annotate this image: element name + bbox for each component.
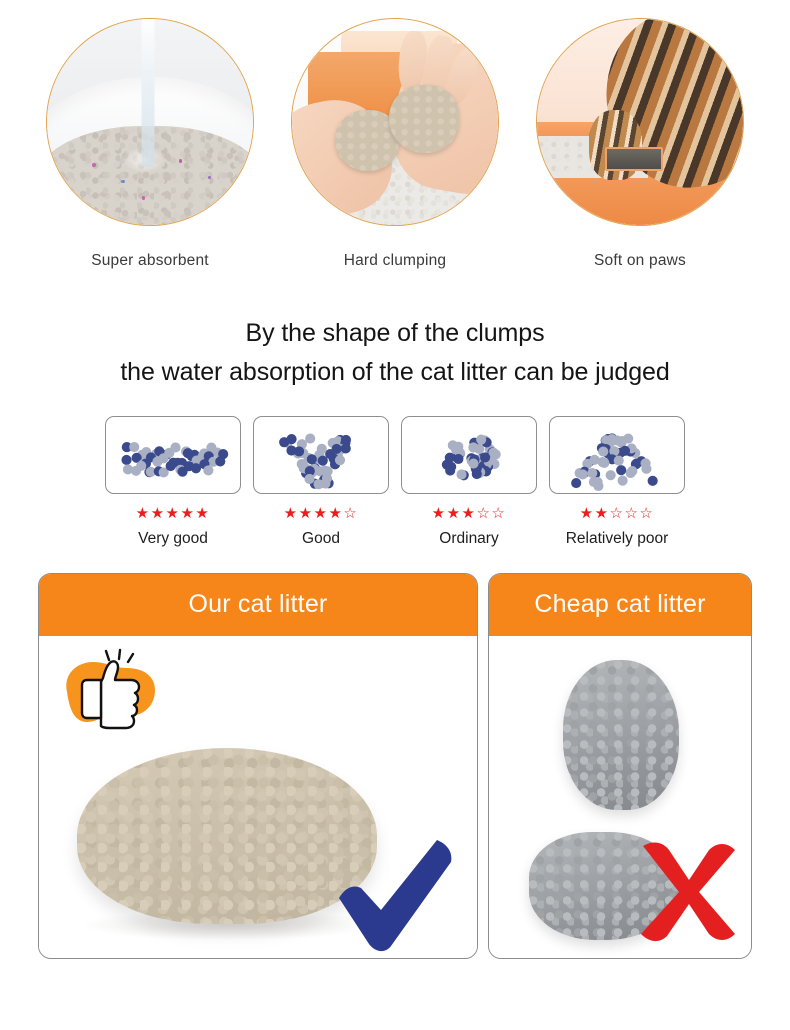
headline: By the shape of the clumps the water abs… xyxy=(0,314,790,392)
thumbs-up-icon xyxy=(57,648,169,734)
compact-round-clump-svg xyxy=(402,417,536,493)
cheap-cat-litter-header: Cheap cat litter xyxy=(489,574,751,636)
soft-on-paws-photo xyxy=(536,18,744,226)
cheap-cat-litter-panel: Cheap cat litter xyxy=(488,573,752,959)
rating-row: ★★★★★ Very good ★★★★☆ Good ★★★☆☆ Ordinar… xyxy=(0,416,790,548)
cheap-litter-clump-photo-top xyxy=(563,660,679,810)
our-litter-clump-photo xyxy=(77,748,377,924)
feature-label: Soft on paws xyxy=(594,252,686,270)
rating-label: Good xyxy=(302,530,340,548)
flat-spread-clump-diagram xyxy=(105,416,241,494)
our-cat-litter-header: Our cat litter xyxy=(39,574,477,636)
product-infographic-page: Super absorbent Hard clumping xyxy=(0,0,790,1030)
star-rating: ★★☆☆☆ xyxy=(580,506,655,521)
feature-item-soft-on-paws: Soft on paws xyxy=(534,18,746,270)
panel-title: Cheap cat litter xyxy=(534,590,705,619)
our-cat-litter-body xyxy=(39,636,477,958)
rating-item-relatively-poor: ★★☆☆☆ Relatively poor xyxy=(549,416,685,548)
rating-label: Relatively poor xyxy=(566,530,669,548)
blue-check-mark-icon xyxy=(333,834,459,952)
super-absorbent-photo xyxy=(46,18,254,226)
rating-label: Ordinary xyxy=(439,530,498,548)
rating-label: Very good xyxy=(138,530,208,548)
star-rating: ★★★★★ xyxy=(136,506,211,521)
feature-item-hard-clumping: Hard clumping xyxy=(289,18,501,270)
red-x-mark-icon xyxy=(633,840,745,944)
pyramid-mound-clump-diagram xyxy=(549,416,685,494)
star-rating: ★★★★☆ xyxy=(284,506,359,521)
feature-item-super-absorbent: Super absorbent xyxy=(44,18,256,270)
compact-round-clump-diagram xyxy=(401,416,537,494)
headline-line-1: By the shape of the clumps xyxy=(0,314,790,353)
headline-line-2: the water absorption of the cat litter c… xyxy=(0,353,790,392)
flat-spread-clump-svg xyxy=(106,417,240,493)
pyramid-mound-clump-svg xyxy=(550,417,684,493)
comparison-section: Our cat litter Cheap cat litter xyxy=(38,573,752,959)
v-shaped-clump-svg xyxy=(254,417,388,493)
our-cat-litter-panel: Our cat litter xyxy=(38,573,478,959)
feature-label: Hard clumping xyxy=(344,252,447,270)
feature-label: Super absorbent xyxy=(91,252,209,270)
hard-clumping-photo xyxy=(291,18,499,226)
rating-item-very-good: ★★★★★ Very good xyxy=(105,416,241,548)
panel-title: Our cat litter xyxy=(189,590,328,619)
rating-item-ordinary: ★★★☆☆ Ordinary xyxy=(401,416,537,548)
v-shaped-clump-diagram xyxy=(253,416,389,494)
star-rating: ★★★☆☆ xyxy=(432,506,507,521)
cheap-cat-litter-body xyxy=(489,636,751,958)
rating-item-good: ★★★★☆ Good xyxy=(253,416,389,548)
feature-row: Super absorbent Hard clumping xyxy=(0,0,790,270)
